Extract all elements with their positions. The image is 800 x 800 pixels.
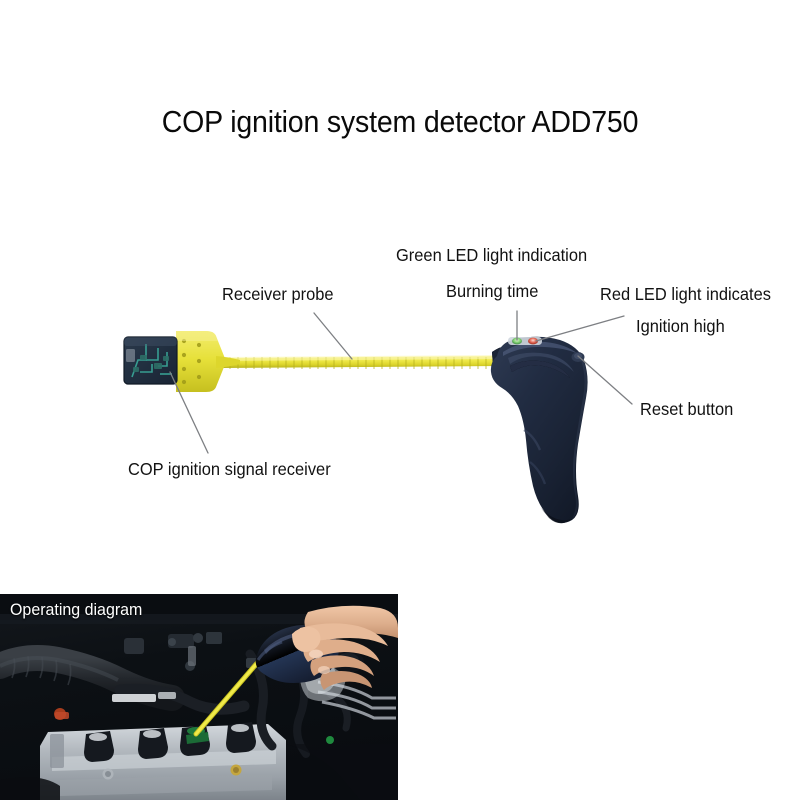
photo-caption: Operating diagram <box>10 600 142 620</box>
detector-handle <box>491 337 588 524</box>
product-illustration <box>0 0 800 560</box>
leader-cop-receiver <box>170 372 208 453</box>
leader-receiver-probe <box>314 313 352 359</box>
callout-ignition-high: Ignition high <box>636 317 725 336</box>
red-led-icon <box>528 338 538 345</box>
led-indicators <box>508 337 542 345</box>
green-led-icon <box>512 338 522 345</box>
cop-signal-receiver-head <box>124 337 177 384</box>
callout-cop-ignition-signal-receiver: COP ignition signal receiver <box>128 460 331 479</box>
callout-reset-button: Reset button <box>640 400 733 419</box>
led-window <box>508 337 542 345</box>
callout-green-led: Green LED light indication <box>396 246 587 265</box>
leader-reset-button <box>578 356 632 404</box>
operating-diagram-photo <box>0 594 398 800</box>
callout-receiver-probe: Receiver probe <box>222 285 334 304</box>
callout-burning-time: Burning time <box>446 282 538 301</box>
probe-shaft <box>223 355 500 369</box>
reset-button-icon <box>572 352 585 362</box>
callout-red-led: Red LED light indicates <box>600 285 771 304</box>
page-title: COP ignition system detector ADD750 <box>32 104 768 140</box>
product-infographic: COP ignition system detector ADD750 <box>0 0 800 800</box>
probe-paddle <box>176 331 240 392</box>
leader-red-led <box>536 316 624 341</box>
